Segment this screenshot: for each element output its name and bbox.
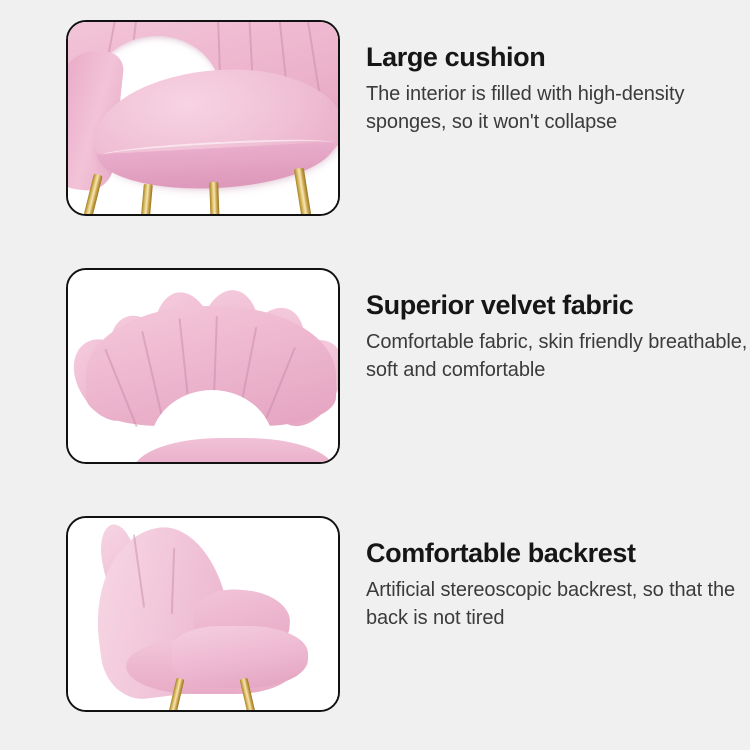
feature-image-card-backrest [66,516,340,712]
feature-row: Large cushion The interior is filled wit… [0,20,750,216]
feature-description: The interior is filled with high-density… [366,80,750,137]
feature-row: Comfortable backrest Artificial stereosc… [0,516,750,712]
chair-seat-photo [68,22,338,214]
feature-image-card-velvet-fabric [66,268,340,464]
chair-leg [209,182,220,214]
feature-title: Superior velvet fabric [366,290,750,322]
feature-row: Superior velvet fabric Comfortable fabri… [0,268,750,464]
feature-image-card-large-cushion [66,20,340,216]
feature-title: Comfortable backrest [366,538,750,570]
feature-list: Large cushion The interior is filled wit… [0,0,750,750]
chair-side-profile-photo [68,518,338,710]
feature-description: Comfortable fabric, skin friendly breath… [366,328,750,385]
chair-leg [294,168,312,214]
chair-backrest-photo [68,270,338,462]
feature-text-block: Large cushion The interior is filled wit… [340,20,750,137]
feature-text-block: Comfortable backrest Artificial stereosc… [340,516,750,633]
chair-leg [140,184,153,214]
feature-description: Artificial stereoscopic backrest, so tha… [366,576,750,633]
feature-title: Large cushion [366,42,750,74]
feature-text-block: Superior velvet fabric Comfortable fabri… [340,268,750,385]
